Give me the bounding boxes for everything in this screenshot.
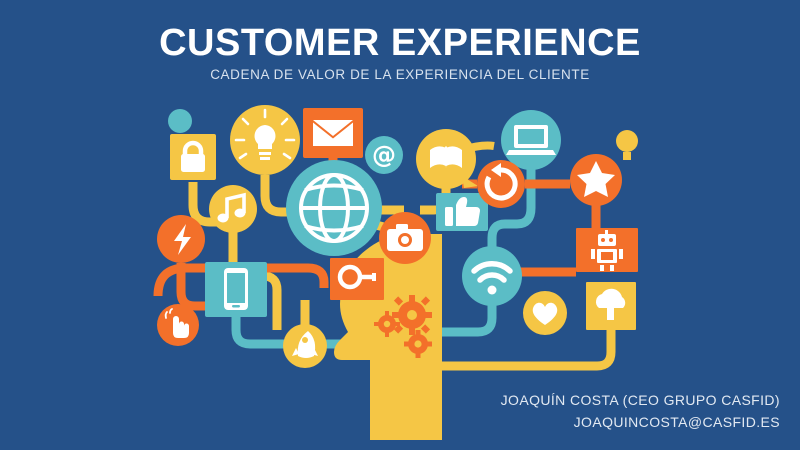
search-icon	[330, 258, 384, 300]
rocket-icon	[283, 324, 327, 368]
smartphone-icon	[205, 262, 267, 317]
slide-canvas: @	[0, 0, 800, 450]
laptop-icon	[501, 110, 561, 170]
cloud-upload-icon	[586, 282, 636, 330]
credit-email: JOAQUINCOSTA@CASFID.ES	[574, 412, 780, 432]
lightbulb-icon	[230, 105, 300, 175]
heart-icon	[523, 291, 567, 335]
globe-icon	[286, 160, 382, 256]
camera-icon	[379, 212, 431, 264]
robot-icon	[576, 228, 638, 272]
star-icon	[570, 154, 622, 206]
wifi-icon	[462, 246, 522, 306]
dot-icon	[168, 109, 192, 133]
page-subtitle: CADENA DE VALOR DE LA EXPERIENCIA DEL CL…	[0, 68, 800, 82]
page-title: CUSTOMER EXPERIENCE	[0, 24, 800, 62]
svg-text:@: @	[372, 141, 396, 169]
music-note-icon	[209, 185, 257, 233]
refresh-icon	[477, 160, 525, 208]
hand-cursor-icon	[157, 304, 199, 346]
lightning-bolt-icon	[157, 215, 205, 263]
envelope-icon	[303, 108, 363, 158]
dot-yellow-icon	[616, 130, 638, 152]
lock-icon	[170, 134, 216, 180]
credit-author: JOAQUÍN COSTA (CEO GRUPO CASFID)	[501, 390, 780, 410]
thumbs-up-icon	[436, 193, 488, 231]
at-sign-icon: @	[365, 136, 403, 174]
